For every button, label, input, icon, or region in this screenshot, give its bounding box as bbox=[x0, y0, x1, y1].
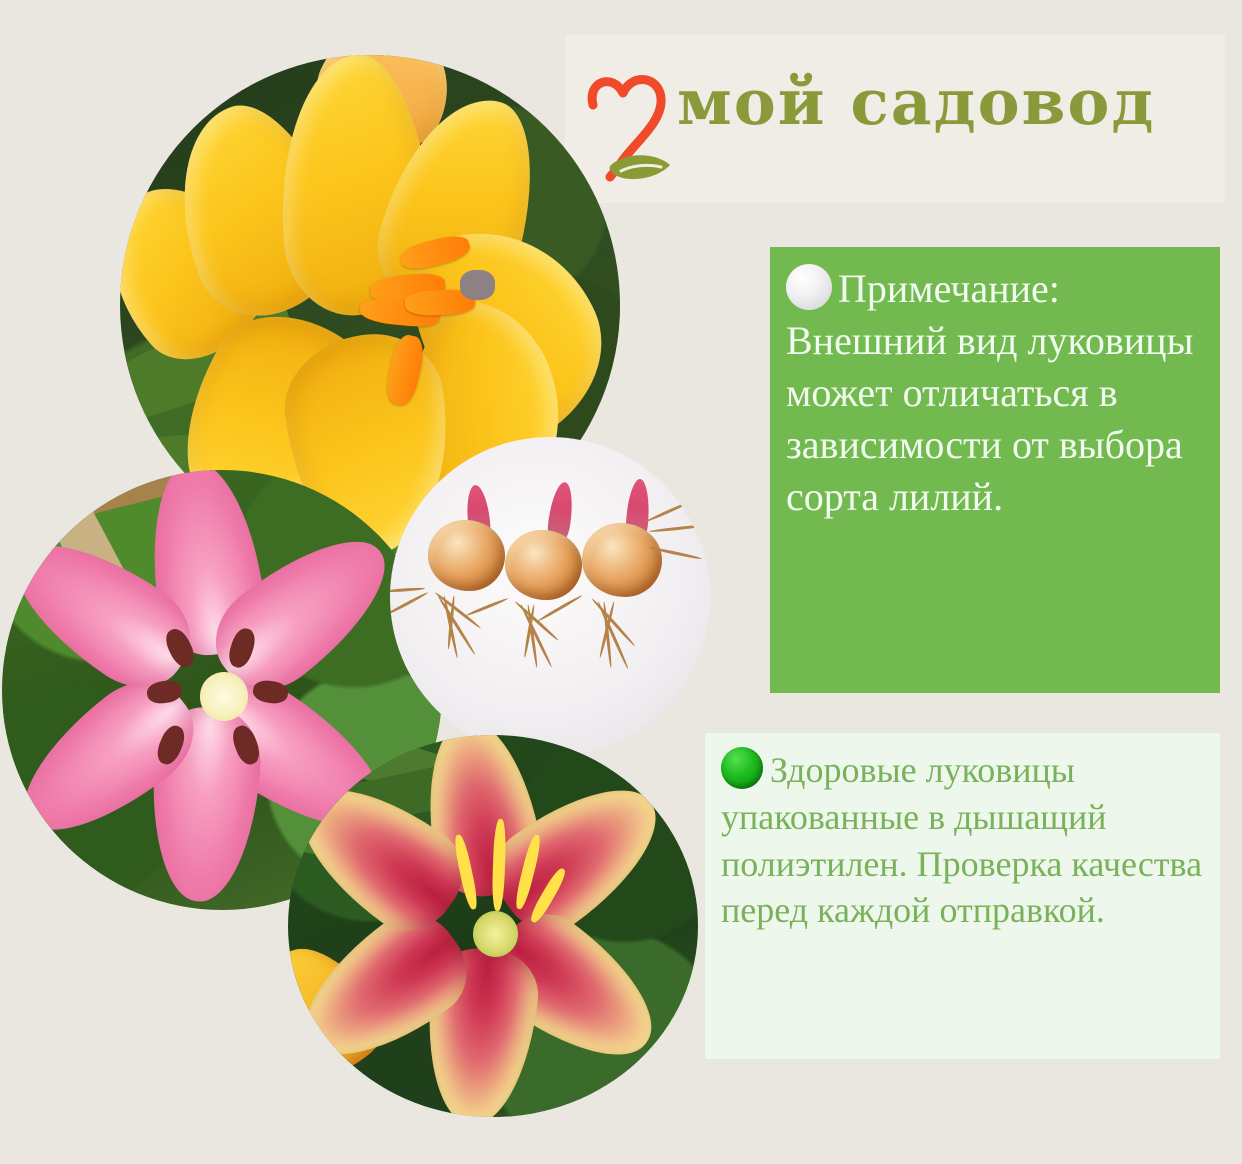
photo-lily-bulbs bbox=[390, 437, 710, 757]
note-secondary-text: Здоровые луковицы упакованные в дышащий … bbox=[721, 747, 1204, 934]
note-secondary: Здоровые луковицы упакованные в дышащий … bbox=[705, 733, 1220, 1059]
note-primary-heading: Примечание: bbox=[838, 266, 1060, 311]
white-circle-bullet-icon bbox=[786, 264, 832, 310]
logo-wordmark: мой садовод bbox=[677, 71, 1155, 134]
photo-red-yellow-lily bbox=[288, 735, 698, 1117]
green-circle-bullet-icon bbox=[721, 747, 763, 789]
note-primary-text: Примечание: Внешний вид луковицы может о… bbox=[786, 263, 1202, 523]
poster-canvas: мой садовод bbox=[0, 0, 1242, 1164]
brand-logo[interactable]: мой садовод bbox=[565, 35, 1225, 203]
note-primary-body: Внешний вид луковицы может отличаться в … bbox=[786, 318, 1193, 519]
note-primary: Примечание: Внешний вид луковицы может о… bbox=[770, 247, 1220, 693]
note-secondary-body: Здоровые луковицы упакованные в дышащий … bbox=[721, 750, 1202, 930]
